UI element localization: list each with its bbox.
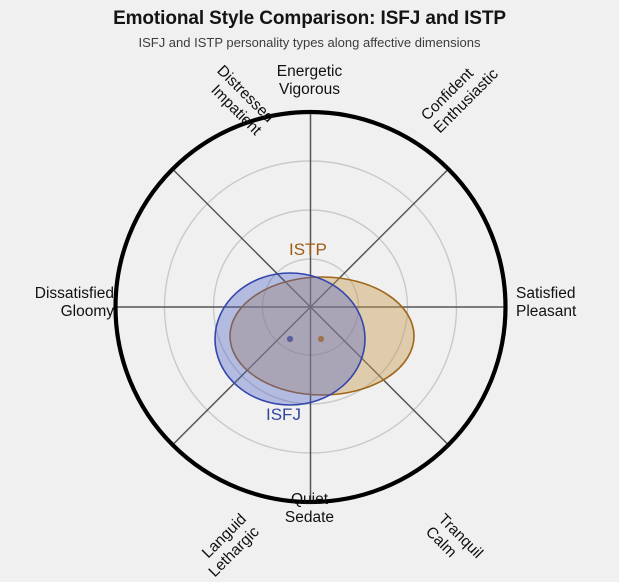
axis-label-quiet-line2: Sedate	[0, 509, 619, 527]
chart-page: Emotional Style Comparison: ISFJ and IST…	[0, 0, 619, 557]
axis-label-quiet: Quiet Sedate	[0, 491, 619, 528]
axis-label-satisfied-line2: Pleasant	[516, 303, 576, 321]
center-marker-isfj	[287, 336, 293, 342]
axis-label-energetic-line1: Energetic	[0, 63, 619, 81]
axis-label-energetic-line2: Vigorous	[0, 81, 619, 99]
axis-label-satisfied-line1: Satisfied	[516, 285, 576, 303]
axis-label-dissatisfied: Dissatisfied Gloomy	[35, 285, 114, 322]
center-marker-istp	[318, 336, 324, 342]
series-label-isfj: ISFJ	[266, 405, 301, 425]
axis-label-energetic: Energetic Vigorous	[0, 63, 619, 100]
axis-label-satisfied: Satisfied Pleasant	[516, 285, 576, 322]
axis-label-dissatisfied-line2: Gloomy	[35, 303, 114, 321]
axis-label-dissatisfied-line1: Dissatisfied	[35, 285, 114, 303]
axis-label-quiet-line1: Quiet	[0, 491, 619, 509]
series-label-istp: ISTP	[289, 240, 327, 260]
